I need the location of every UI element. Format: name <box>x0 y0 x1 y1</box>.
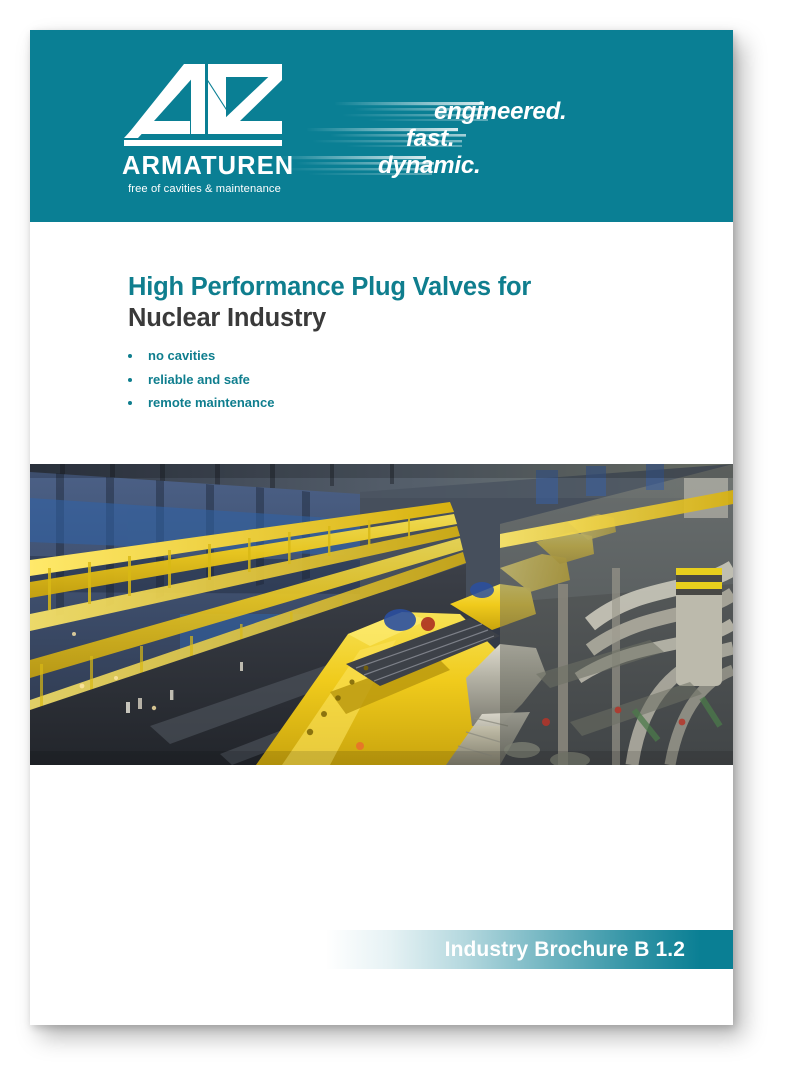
bullet-label: remote maintenance <box>148 391 274 415</box>
list-item: remote maintenance <box>128 391 528 415</box>
slogan-line-dynamic: dynamic. <box>378 152 480 179</box>
list-item: reliable and safe <box>128 368 528 392</box>
page-title-line-1: High Performance Plug Valves for <box>128 272 688 303</box>
page-title-line-2: Nuclear Industry <box>128 303 688 334</box>
az-logo-icon <box>122 64 287 146</box>
logo-wordmark: ARMATUREN <box>122 154 287 180</box>
cover-photo <box>30 464 733 765</box>
slogan-line-engineered: engineered. <box>434 98 567 125</box>
header-band: ARMATUREN free of cavities & maintenance <box>30 30 733 222</box>
brochure-page: ARMATUREN free of cavities & maintenance <box>30 30 733 1025</box>
bullet-dot-icon <box>128 378 132 382</box>
logo-tagline: free of cavities & maintenance <box>122 184 287 195</box>
bullet-dot-icon <box>128 354 132 358</box>
page-title: High Performance Plug Valves for Nuclear… <box>128 272 688 334</box>
slogan-block: engineered. fast. dynamic. <box>278 98 698 198</box>
bullet-label: reliable and safe <box>148 368 250 392</box>
slogan-line-fast: fast. <box>406 125 454 152</box>
footer-banner: Industry Brochure B 1.2 <box>325 930 733 969</box>
bullet-label: no cavities <box>148 344 215 368</box>
brochure-label: Industry Brochure B 1.2 <box>445 930 685 969</box>
feature-bullet-list: no cavities reliable and safe remote mai… <box>128 344 528 415</box>
company-logo: ARMATUREN free of cavities & maintenance <box>122 64 287 204</box>
bullet-dot-icon <box>128 401 132 405</box>
slogan-streaks-row-2 <box>306 125 646 152</box>
list-item: no cavities <box>128 344 528 368</box>
